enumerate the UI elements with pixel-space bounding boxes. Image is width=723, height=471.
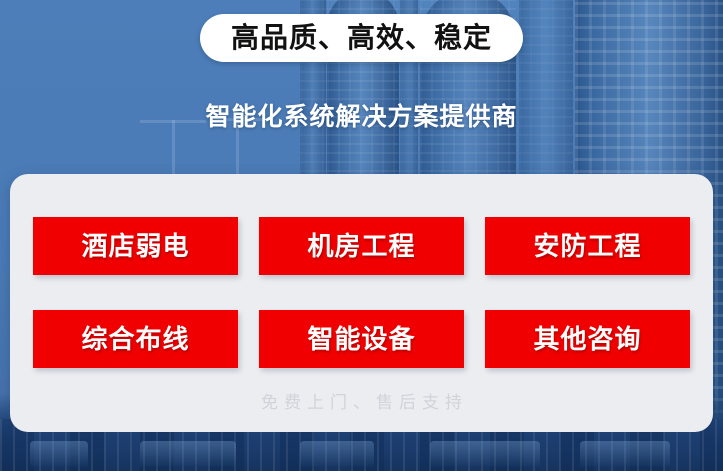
street-structure bbox=[30, 441, 88, 467]
banner-subtitle: 智能化系统解决方案提供商 bbox=[0, 97, 723, 133]
service-button-structured-cabling[interactable]: 综合布线 bbox=[33, 310, 238, 368]
headline-badge: 高品质、高效、稳定 bbox=[200, 14, 523, 62]
headline-badge-text: 高品质、高效、稳定 bbox=[231, 24, 492, 52]
street-structure bbox=[140, 441, 236, 467]
service-button-label: 其他咨询 bbox=[533, 326, 641, 352]
service-button-label: 智能设备 bbox=[307, 326, 415, 352]
service-button-smart-devices[interactable]: 智能设备 bbox=[259, 310, 464, 368]
service-card: 酒店弱电 机房工程 安防工程 综合布线 智能设备 其他咨询 免费上门、售后支持 bbox=[10, 174, 713, 432]
street-structure bbox=[300, 441, 374, 467]
service-button-label: 机房工程 bbox=[307, 233, 415, 259]
street-structure bbox=[430, 441, 540, 467]
card-footer-text: 免费上门、售后支持 bbox=[10, 388, 713, 413]
service-button-label: 综合布线 bbox=[81, 326, 189, 352]
promo-banner: 高品质、高效、稳定 智能化系统解决方案提供商 酒店弱电 机房工程 安防工程 综合… bbox=[0, 0, 723, 471]
service-button-data-center[interactable]: 机房工程 bbox=[259, 217, 464, 275]
service-button-label: 安防工程 bbox=[533, 233, 641, 259]
service-button-label: 酒店弱电 bbox=[81, 233, 189, 259]
service-button-security[interactable]: 安防工程 bbox=[485, 217, 690, 275]
service-button-grid: 酒店弱电 机房工程 安防工程 综合布线 智能设备 其他咨询 bbox=[33, 217, 690, 368]
street-structure bbox=[580, 441, 670, 467]
service-button-other-inquiry[interactable]: 其他咨询 bbox=[485, 310, 690, 368]
service-button-hotel-weak-current[interactable]: 酒店弱电 bbox=[33, 217, 238, 275]
